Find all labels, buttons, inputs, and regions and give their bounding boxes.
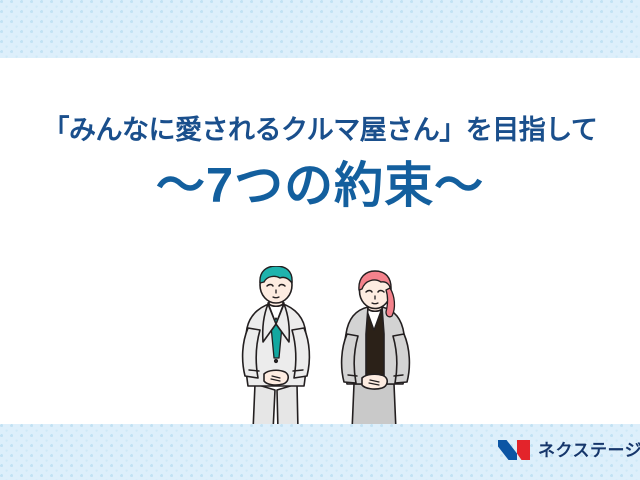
nextage-n-mark-icon <box>497 438 531 462</box>
top-dot-band <box>0 0 640 58</box>
brand-logo-text: ネクステージ <box>538 442 640 459</box>
promotional-banner: 「みんなに愛されるクルマ屋さん」を目指して 〜7つの約束〜 <box>0 0 640 480</box>
headline-line-1: 「みんなに愛されるクルマ屋さん」を目指して <box>0 112 640 148</box>
bowing-staff-illustration <box>228 266 444 431</box>
staff-figures-svg <box>228 266 444 431</box>
male-staff-figure <box>243 266 310 431</box>
female-staff-figure <box>342 271 410 431</box>
headline-block: 「みんなに愛されるクルマ屋さん」を目指して 〜7つの約束〜 <box>0 112 640 218</box>
brand-logo: ネクステージ <box>497 438 640 462</box>
headline-line-2: 〜7つの約束〜 <box>0 156 640 217</box>
